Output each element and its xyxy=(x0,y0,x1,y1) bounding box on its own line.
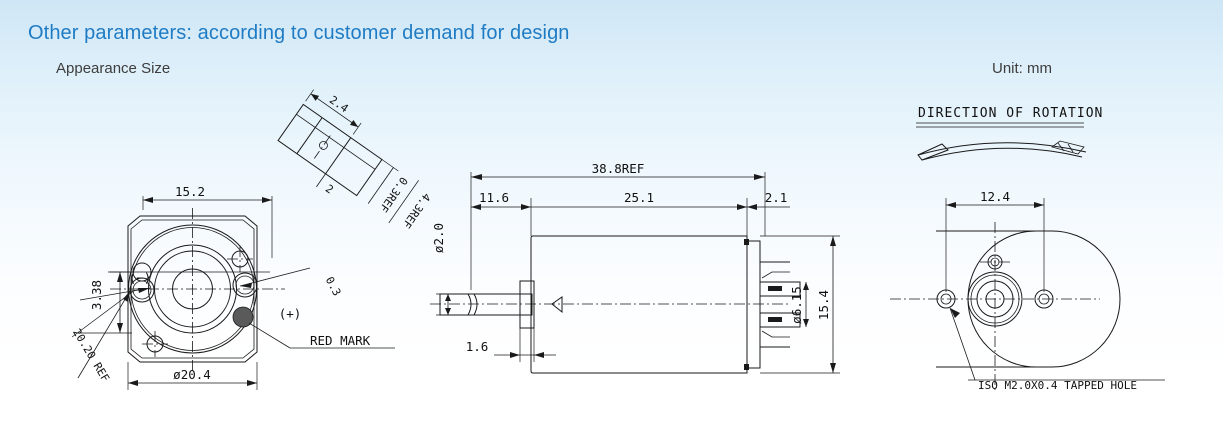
dim-shaft-length: 11.6 xyxy=(471,190,531,290)
dim-end-length: 2.1 xyxy=(747,190,790,210)
dim-hole-spacing: 12.4 xyxy=(946,189,1044,292)
dim-label-12-4: 12.4 xyxy=(980,189,1010,204)
front-view: 15.2 3.38 (−) (+) 0.3 RED MARK xyxy=(70,184,395,390)
dim-flat-length: 1.6 xyxy=(466,328,556,362)
dim-height-338: 3.38 xyxy=(78,272,132,333)
dim-label-2: 2 xyxy=(323,182,336,196)
label-negative-terminal: (−) xyxy=(129,270,152,285)
dim-label-15-4: 15.4 xyxy=(816,290,831,320)
dim-label-1-6: 1.6 xyxy=(466,339,489,354)
label-iso-tapped-hole: ISO M2.0X0.4 TAPPED HOLE xyxy=(978,379,1137,392)
dim-width-152: 15.2 xyxy=(143,184,272,258)
dim-diameter-204: ø20.4 xyxy=(128,362,257,390)
dim-shaft-diameter: ø2.0 xyxy=(431,223,460,315)
label-red-mark: RED MARK xyxy=(310,333,371,348)
dim-label-0-3: 0.3 xyxy=(323,275,344,299)
dim-label-3-38: 3.38 xyxy=(89,280,104,310)
dim-label-2-4: 2.4 xyxy=(327,93,351,115)
dim-body-length: 25.1 xyxy=(531,190,747,236)
dim-label-20-20-ref: 20.20 REF xyxy=(70,326,112,384)
dim-label-dia-6-15: ø6.15 xyxy=(789,286,804,324)
dim-overall-length: 38.8REF xyxy=(471,161,765,236)
rotation-direction-callout: DIRECTION OF ROTATION xyxy=(916,106,1103,160)
tapped-hole-callout: ISO M2.0X0.4 TAPPED HOLE xyxy=(950,308,1165,392)
dim-label-dia-2-0: ø2.0 xyxy=(431,223,446,253)
dim-label-dia-20-4: ø20.4 xyxy=(173,367,211,382)
dim-label-4-3-ref: 4.3REF xyxy=(400,191,433,231)
side-view: 38.8REF 11.6 25.1 2. xyxy=(430,161,840,373)
detail-view: 2.4 2 0.3REF 4.3REF xyxy=(268,82,450,246)
dim-label-15-2: 15.2 xyxy=(175,184,205,199)
dim-boss-diameter: ø6.15 xyxy=(789,282,809,327)
label-positive-terminal: (+) xyxy=(279,306,302,321)
dim-label-25-1: 25.1 xyxy=(624,190,654,205)
appearance-size-panel: Other parameters: according to customer … xyxy=(0,0,1223,424)
dim-label-0-3-ref: 0.3REF xyxy=(377,174,410,214)
red-mark-callout: RED MARK xyxy=(290,333,395,348)
dim-label-38-8-ref: 38.8REF xyxy=(592,161,645,176)
technical-drawing: 15.2 3.38 (−) (+) 0.3 RED MARK xyxy=(0,0,1223,424)
label-direction-of-rotation: DIRECTION OF ROTATION xyxy=(918,106,1103,121)
dim-label-2-1: 2.1 xyxy=(765,190,788,205)
dim-label-11-6: 11.6 xyxy=(479,190,509,205)
rear-view: DIRECTION OF ROTATION xyxy=(890,106,1165,392)
mounting-hole-lower-left xyxy=(142,331,168,357)
motor-shaft xyxy=(440,281,534,328)
